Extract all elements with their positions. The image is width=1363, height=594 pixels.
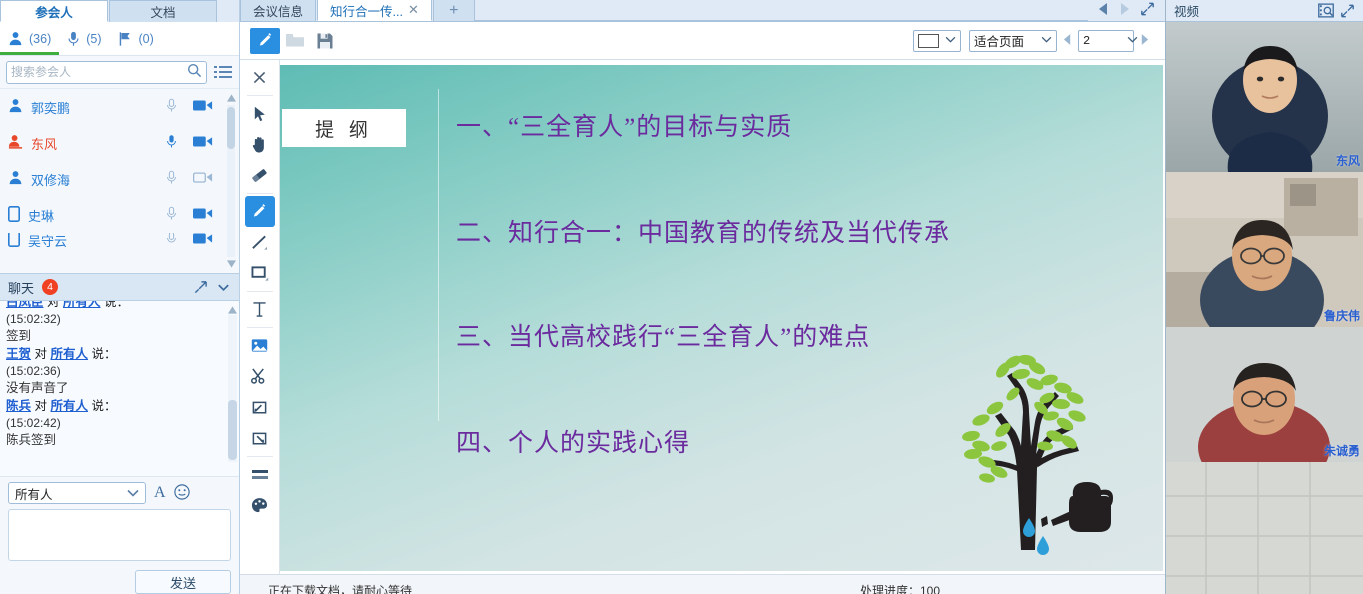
chat-sender[interactable]: 王贺 — [6, 347, 31, 361]
tab-participants[interactable]: 参会人 — [0, 0, 108, 22]
chat-verb-prefix: 对 — [35, 399, 48, 413]
chat-messages[interactable]: 白凤臣 对 所有人 说： (15:02:32) 签到 王贺 对 所有人 说： (… — [0, 301, 239, 477]
scrollbar-thumb[interactable] — [228, 400, 237, 460]
microphone-off-icon[interactable] — [166, 233, 177, 247]
document-tabs: 会议信息 知行合一传... ✕ + — [240, 0, 1165, 22]
chat-sender[interactable]: 白凤臣 — [6, 301, 44, 309]
count-people[interactable]: (36) — [0, 22, 59, 55]
line-icon[interactable] — [245, 227, 275, 258]
chat-message: 陈兵 对 所有人 说： (15:02:42) 陈兵签到 — [6, 398, 233, 449]
chat-verb-suffix: 说： — [92, 399, 117, 413]
close-icon[interactable]: ✕ — [408, 2, 419, 18]
page-number-select[interactable] — [1078, 30, 1134, 52]
tree-watering-can-illustration — [951, 350, 1151, 565]
tab-label: 会议信息 — [253, 1, 303, 20]
pencil-icon[interactable] — [250, 28, 280, 54]
camera-on-icon[interactable] — [193, 207, 213, 223]
chat-input[interactable] — [8, 509, 231, 561]
chat-recipient[interactable]: 所有人 — [51, 347, 89, 361]
participant-name: 东风 — [31, 134, 158, 153]
chat-timestamp: (15:02:32) — [6, 311, 233, 328]
list-view-icon[interactable] — [213, 65, 233, 79]
scroll-up-icon[interactable] — [228, 303, 237, 317]
participant-name: 吴守云 — [28, 233, 158, 247]
video-label: 东风 — [1336, 152, 1360, 169]
chevron-down-icon — [1041, 35, 1052, 46]
slide-chip-title: 提 纲 — [282, 109, 406, 147]
video-tile-2[interactable]: 朱诚勇 — [1166, 327, 1363, 462]
chevron-down-icon — [945, 35, 956, 46]
microphone-off-icon[interactable] — [166, 206, 177, 224]
redo-icon[interactable] — [245, 423, 275, 454]
search-box[interactable] — [6, 61, 207, 84]
microphone-off-icon[interactable] — [166, 170, 177, 188]
slide-line-3: 三、当代高校践行“三全育人”的难点 — [456, 317, 870, 353]
close-icon[interactable] — [245, 62, 275, 93]
tab-meeting-info[interactable]: 会议信息 — [240, 0, 316, 21]
video-tile-0[interactable]: 东风 — [1166, 22, 1363, 172]
palette-icon[interactable] — [245, 490, 275, 521]
participant-name: 史琳 — [28, 206, 158, 225]
person-icon — [8, 31, 23, 46]
chat-text: 没有声音了 — [6, 380, 233, 397]
prev-arrow-icon[interactable] — [1098, 3, 1109, 18]
folder-icon[interactable] — [280, 28, 310, 54]
eraser-icon[interactable] — [245, 160, 275, 191]
emoji-icon[interactable] — [174, 484, 190, 503]
chat-recipient[interactable]: 所有人 — [51, 399, 89, 413]
cursor-icon[interactable] — [245, 98, 275, 129]
scroll-down-icon[interactable] — [227, 257, 236, 271]
count-raised-hand-value: (0) — [139, 32, 154, 46]
chat-message: 王贺 对 所有人 说： (15:02:36) 没有声音了 — [6, 346, 233, 397]
video-tile-3[interactable] — [1166, 462, 1363, 594]
chat-toolbar: 所有人 A — [0, 477, 239, 509]
next-arrow-icon[interactable] — [1119, 3, 1130, 18]
count-people-value: (36) — [29, 32, 51, 46]
chat-scrollbar[interactable] — [228, 303, 237, 474]
chat-message-header: 白凤臣 对 所有人 说： — [6, 301, 233, 311]
person-icon — [8, 98, 23, 116]
video-label: 朱诚勇 — [1324, 442, 1360, 459]
zoom-mode-select[interactable]: 适合页面 — [969, 30, 1057, 52]
status-progress-text: 处理进度：100 — [860, 582, 940, 594]
host-icon — [8, 134, 23, 152]
microphone-off-icon[interactable] — [166, 98, 177, 116]
chat-message-header: 陈兵 对 所有人 说： — [6, 398, 233, 415]
chat-text: 签到 — [6, 328, 233, 345]
expand-arrow-icon[interactable] — [1340, 4, 1355, 18]
chat-timestamp: (15:02:36) — [6, 363, 233, 380]
participant-row-2[interactable]: 双修海 — [0, 161, 239, 197]
chat-message: 白凤臣 对 所有人 说： (15:02:32) 签到 — [6, 301, 233, 345]
document-nav — [1088, 0, 1165, 21]
document-panel: 会议信息 知行合一传... ✕ + — [240, 0, 1165, 594]
camera-on-icon[interactable] — [193, 233, 213, 247]
tab-label: 知行合一传... — [330, 1, 403, 20]
slide-line-4: 四、个人的实践心得 — [456, 423, 690, 459]
slide-line-1: 一、“三全育人”的目标与实质 — [456, 107, 792, 143]
camera-on-icon[interactable] — [193, 99, 213, 115]
meeting-app-window: 参会人 文档 (36) (5) (0) — [0, 0, 1363, 594]
font-style-icon[interactable]: A — [154, 484, 166, 502]
rectangle-icon[interactable] — [245, 258, 275, 289]
microphone-on-icon[interactable] — [166, 134, 177, 152]
chat-sender[interactable]: 陈兵 — [6, 399, 31, 413]
pen-icon[interactable] — [245, 196, 275, 227]
count-raised-hand[interactable]: (0) — [110, 22, 162, 55]
tab-documents[interactable]: 文档 — [109, 0, 217, 22]
chat-verb-suffix: 说： — [104, 301, 129, 309]
chat-recipient[interactable]: 所有人 — [63, 301, 101, 309]
status-download-text: 正在下载文档，请耐心等待 — [268, 582, 412, 594]
participant-row-4[interactable]: 吴守云 — [0, 233, 239, 247]
flag-icon — [118, 31, 133, 47]
camera-on-icon[interactable] — [193, 135, 213, 151]
chat-verb-suffix: 说： — [92, 347, 117, 361]
chat-title: 聊天 — [8, 278, 34, 297]
zoom-mode-value: 适合页面 — [974, 31, 1024, 50]
slide-divider — [438, 89, 439, 421]
chat-message-header: 王贺 对 所有人 说： — [6, 346, 233, 363]
color-select[interactable] — [913, 30, 961, 52]
color-swatch — [918, 34, 939, 48]
mobile-icon — [8, 233, 20, 247]
hand-icon[interactable] — [245, 129, 275, 160]
left-panel: 参会人 文档 (36) (5) (0) — [0, 0, 240, 594]
participant-row-0[interactable]: 郭奕鹏 — [0, 89, 239, 125]
participant-row-3[interactable]: 史琳 — [0, 197, 239, 233]
scissors-icon[interactable] — [245, 361, 275, 392]
chat-send-row: 发送 — [0, 564, 239, 594]
plus-icon[interactable]: + — [433, 0, 475, 21]
participant-name: 郭奕鹏 — [31, 98, 158, 117]
next-page-icon[interactable] — [1134, 34, 1155, 48]
left-tabs: 参会人 文档 — [0, 0, 239, 22]
chat-timestamp: (15:02:42) — [6, 415, 233, 432]
slide-viewport[interactable]: 提 纲 一、“三全育人”的目标与实质 二、知行合一：中国教育的传统及当代传承 三… — [280, 60, 1165, 574]
text-icon[interactable] — [245, 294, 275, 325]
chat-input-wrap — [0, 509, 239, 564]
chevron-down-icon[interactable] — [216, 280, 231, 295]
document-toolbar: 适合页面 — [240, 22, 1165, 60]
prev-page-icon[interactable] — [1057, 34, 1078, 48]
slide-line-2: 二、知行合一：中国教育的传统及当代传承 — [456, 213, 950, 249]
video-settings-icon[interactable] — [1318, 3, 1334, 18]
participant-scrollbar[interactable] — [225, 91, 237, 271]
participant-name: 双修海 — [31, 170, 158, 189]
microphone-icon — [67, 31, 80, 47]
presentation-slide: 提 纲 一、“三全育人”的目标与实质 二、知行合一：中国教育的传统及当代传承 三… — [280, 65, 1163, 571]
video-panel-title: 视频 — [1174, 1, 1312, 20]
participant-search-row — [0, 56, 239, 88]
drawing-toolbar — [240, 60, 280, 574]
video-label: 鲁庆伟 — [1324, 307, 1360, 324]
participant-row-1[interactable]: 东风 — [0, 125, 239, 161]
tabs-spacer — [475, 0, 1088, 21]
chat-recipient-select[interactable]: 所有人 — [8, 482, 146, 504]
image-icon[interactable] — [245, 330, 275, 361]
undo-icon[interactable] — [245, 392, 275, 423]
camera-off-icon[interactable] — [193, 171, 213, 187]
tab-presentation[interactable]: 知行合一传... ✕ — [317, 0, 432, 21]
chat-text: 陈兵签到 — [6, 432, 233, 449]
scroll-up-icon[interactable] — [227, 91, 236, 105]
video-panel: 视频 东风 — [1165, 0, 1363, 594]
expand-arrow-icon[interactable] — [193, 280, 208, 295]
search-icon[interactable] — [187, 63, 202, 81]
chat-verb-prefix: 对 — [35, 347, 48, 361]
count-microphone[interactable]: (5) — [59, 22, 109, 55]
chat-verb-prefix: 对 — [47, 301, 60, 309]
expand-arrow-icon[interactable] — [1140, 2, 1155, 19]
lines-icon[interactable] — [245, 459, 275, 490]
search-input[interactable] — [11, 65, 187, 79]
participant-list[interactable]: 郭奕鹏 东风 — [0, 88, 239, 273]
document-stage: 提 纲 一、“三全育人”的目标与实质 二、知行合一：中国教育的传统及当代传承 三… — [240, 60, 1165, 575]
chat-unread-badge: 4 — [42, 279, 58, 295]
page-number-input[interactable] — [1083, 31, 1121, 51]
save-icon[interactable] — [310, 28, 340, 54]
video-tile-1[interactable]: 鲁庆伟 — [1166, 172, 1363, 327]
chat-header: 聊天 4 — [0, 273, 239, 301]
count-microphone-value: (5) — [86, 32, 101, 46]
scrollbar-thumb[interactable] — [227, 107, 235, 149]
video-panel-header: 视频 — [1166, 0, 1363, 22]
person-icon — [8, 170, 23, 188]
send-button[interactable]: 发送 — [135, 570, 231, 594]
document-status-bar: 正在下载文档，请耐心等待 处理进度：100 — [240, 575, 1165, 594]
chevron-down-icon — [127, 486, 139, 500]
mobile-icon — [8, 206, 20, 225]
chat-recipient-value: 所有人 — [15, 484, 53, 503]
participant-counts: (36) (5) (0) — [0, 22, 239, 56]
